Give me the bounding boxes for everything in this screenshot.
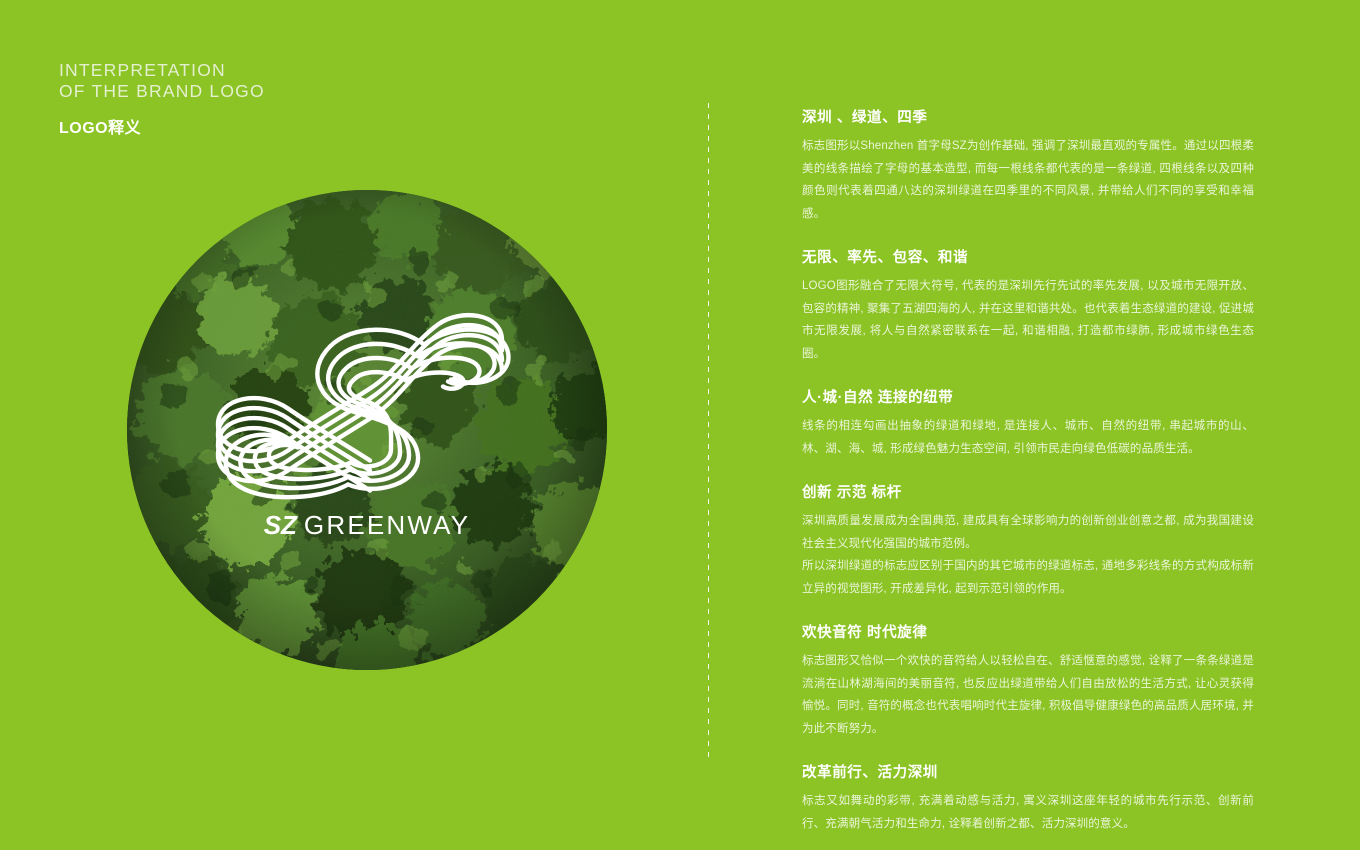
section-block: 人·城·自然 连接的纽带 线条的相连勾画出抽象的绿道和绿地, 是连接人、城市、自… (802, 388, 1254, 460)
section-paragraph: 标志又如舞动的彩带, 充满着动感与活力, 寓义深圳这座年轻的城市先行示范、创新前… (802, 790, 1254, 835)
section-paragraph: 所以深圳绿道的标志应区别于国内的其它城市的绿道标志, 通地多彩线条的方式构成标新… (802, 555, 1254, 600)
section-heading: 深圳 、绿道、四季 (802, 108, 1254, 128)
section-heading: 欢快音符 时代旋律 (802, 623, 1254, 643)
sz-greenway-logo-mark (202, 318, 532, 503)
vertical-dashed-divider (708, 103, 709, 758)
section-block: 无限、率先、包容、和谐 LOGO图形融合了无限大符号, 代表的是深圳先行先试的率… (802, 248, 1254, 365)
logo-wordmark: SZGREENWAY (127, 510, 607, 541)
logo-circle-image: SZGREENWAY (127, 190, 607, 670)
section-heading: 无限、率先、包容、和谐 (802, 248, 1254, 268)
section-paragraph: 标志图形又恰似一个欢快的音符给人以轻松自在、舒适惬意的感觉, 诠释了一条条绿道是… (802, 650, 1254, 740)
section-block: 创新 示范 标杆 深圳高质量发展成为全国典范, 建成具有全球影响力的创新创业创意… (802, 483, 1254, 600)
section-heading: 改革前行、活力深圳 (802, 763, 1254, 783)
interpretation-sections: 深圳 、绿道、四季 标志图形以Shenzhen 首字母SZ为创作基础, 强调了深… (802, 108, 1254, 835)
section-paragraph: 深圳高质量发展成为全国典范, 建成具有全球影响力的创新创业创意之都, 成为我国建… (802, 510, 1254, 555)
section-paragraph: LOGO图形融合了无限大符号, 代表的是深圳先行先试的率先发展, 以及城市无限开… (802, 275, 1254, 365)
page-title-english: INTERPRETATION OF THE BRAND LOGO (59, 60, 265, 102)
section-heading: 人·城·自然 连接的纽带 (802, 388, 1254, 408)
page-header: INTERPRETATION OF THE BRAND LOGO LOGO释义 (59, 60, 265, 138)
section-block: 深圳 、绿道、四季 标志图形以Shenzhen 首字母SZ为创作基础, 强调了深… (802, 108, 1254, 225)
section-heading: 创新 示范 标杆 (802, 483, 1254, 503)
section-block: 欢快音符 时代旋律 标志图形又恰似一个欢快的音符给人以轻松自在、舒适惬意的感觉,… (802, 623, 1254, 740)
page-title-chinese: LOGO释义 (59, 114, 265, 138)
logo-wordmark-sz: SZ (264, 510, 297, 540)
section-paragraph: 线条的相连勾画出抽象的绿道和绿地, 是连接人、城市、自然的纽带, 串起城市的山、… (802, 415, 1254, 460)
logo-wordmark-greenway: GREENWAY (304, 510, 470, 540)
section-paragraph: 标志图形以Shenzhen 首字母SZ为创作基础, 强调了深圳最直观的专属性。通… (802, 135, 1254, 225)
section-block: 改革前行、活力深圳 标志又如舞动的彩带, 充满着动感与活力, 寓义深圳这座年轻的… (802, 763, 1254, 835)
brand-logo-interpretation-page: INTERPRETATION OF THE BRAND LOGO LOGO释义 (0, 0, 1360, 850)
